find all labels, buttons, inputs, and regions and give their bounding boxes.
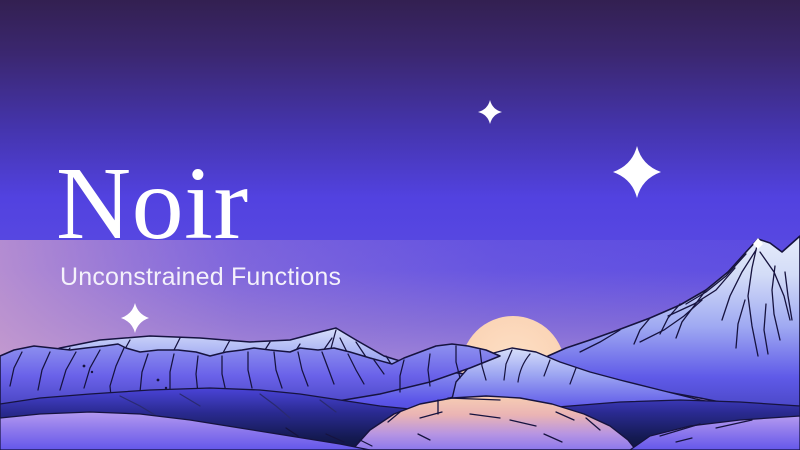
slide-canvas: Noir Unconstrained Functions [0, 0, 800, 450]
illustration-scene [0, 0, 800, 450]
